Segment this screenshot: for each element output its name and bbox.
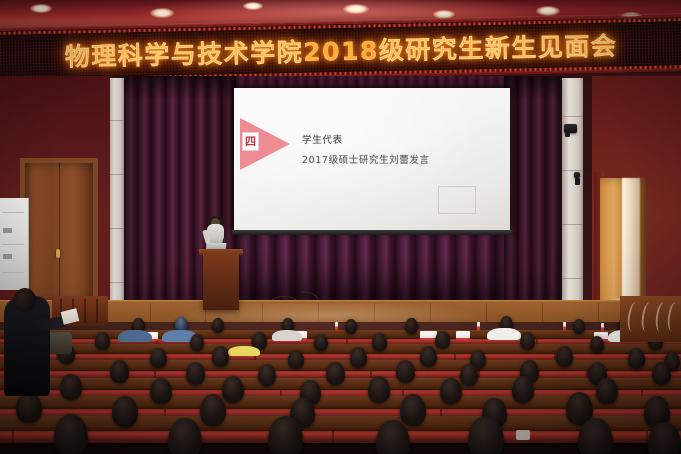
audience-head [258, 364, 276, 386]
audience-head [372, 333, 387, 351]
audience-head [652, 362, 671, 385]
audience-head [628, 348, 645, 369]
name-card [456, 331, 470, 340]
water-bottle [601, 323, 604, 332]
audience-head [396, 360, 415, 383]
stage-curtain-lower [236, 228, 504, 300]
audience-head [222, 376, 244, 403]
audience-head [150, 348, 167, 368]
audience-shoulders [272, 330, 302, 341]
audience-head [110, 360, 129, 383]
right-aisle-rail [620, 296, 681, 342]
audience-head [326, 362, 345, 385]
audience-head [435, 331, 450, 349]
door-seam [59, 163, 60, 301]
water-bottle [563, 322, 566, 331]
downlight-4 [343, 4, 369, 14]
audience-head [512, 376, 534, 403]
audience-head [345, 319, 357, 334]
audience-head [288, 350, 304, 369]
audience-head [212, 346, 229, 367]
audience-head [186, 362, 205, 385]
slide-subheading: 2017级硕士研究生刘蕾发言 [302, 152, 430, 166]
audience-head [95, 332, 110, 350]
audience-head [590, 336, 604, 353]
phone-screen-glow [516, 430, 530, 440]
audience-shoulders [487, 328, 521, 340]
audience-head [60, 374, 82, 400]
wooden-podium [203, 252, 239, 310]
slide-faint-box [438, 186, 476, 214]
audience-head [556, 346, 573, 367]
wall-mounted-speaker-icon [564, 124, 577, 133]
audience-head [200, 394, 226, 426]
curtain-shade [504, 76, 562, 100]
white-cabinet [0, 198, 29, 290]
door-handle-icon[interactable] [56, 249, 60, 258]
water-bottle [335, 322, 338, 331]
downlight-6 [433, 10, 455, 19]
downlight-2 [150, 8, 174, 18]
stage-curtain-right [504, 76, 562, 328]
audience-head [420, 346, 437, 367]
audience-shoulders [228, 346, 260, 356]
doorway-daylight [622, 178, 640, 310]
water-bottle [477, 322, 480, 331]
audience-head [368, 376, 390, 403]
downlight-3 [243, 2, 263, 10]
slide-heading: 学生代表 [302, 132, 343, 146]
audience-head [440, 378, 462, 404]
audience-shoulders [118, 330, 152, 342]
audience-head [150, 378, 172, 404]
downlight-1 [30, 4, 52, 13]
curtain-shade [124, 76, 236, 100]
left-wooden-door[interactable] [20, 158, 98, 306]
audience-head [350, 347, 367, 368]
banner-title-text: 物理科学与技术学院2018级研究生新生见面会 [0, 17, 681, 83]
audience-head [520, 332, 535, 350]
audience-head-foreground [54, 414, 88, 454]
auditorium-photo: 物理科学与技术学院2018级研究生新生见面会 四 学生 [0, 0, 681, 454]
left-column [110, 78, 124, 328]
screen-bottom-bar [232, 230, 512, 235]
audience-head [190, 334, 204, 351]
audience-head [596, 378, 618, 404]
audience-head [212, 318, 224, 333]
foreground-person-head [14, 288, 36, 312]
audience-head [16, 392, 42, 423]
slide-section-number: 四 [242, 132, 259, 151]
audience-head [400, 394, 426, 426]
projection-screen: 四 学生代表 2017级硕士研究生刘蕾发言 [234, 88, 510, 230]
wall-mounted-speaker-icon-2 [574, 172, 580, 178]
audience-head [405, 318, 418, 334]
audience-head [573, 319, 585, 334]
audience-head [460, 364, 478, 386]
audience-head [314, 334, 328, 351]
downlight-7 [536, 6, 560, 16]
right-column [561, 78, 583, 328]
audience-head [112, 396, 138, 427]
